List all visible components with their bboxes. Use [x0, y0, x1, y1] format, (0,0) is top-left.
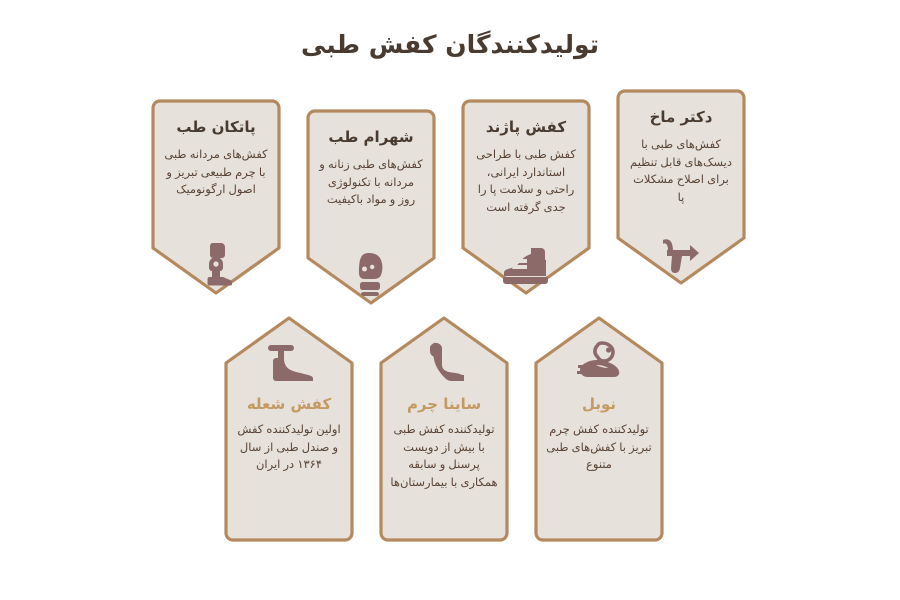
card-description: تولیدکننده کفش چرم تبریز با کفش‌های طبی …	[545, 421, 653, 474]
card-content: نوبل تولیدکننده کفش چرم تبریز با کفش‌های…	[533, 315, 665, 543]
card-content: دکتر ماخ کفش‌های طبی با دیسک‌های قابل تن…	[615, 88, 747, 286]
card-description: تولیدکننده کفش طبی با بیش از دویست پرسنل…	[390, 421, 498, 492]
card-content: کفش پاژند کفش طبی با طراحی استاندارد ایر…	[460, 98, 592, 296]
card-heading: کفش شعله	[247, 395, 331, 414]
card-content: ساینا چرم تولیدکننده کفش طبی با بیش از د…	[378, 315, 510, 543]
page-title: تولیدکنندگان کفش طبی	[0, 30, 900, 59]
sandal-heel-icon	[265, 341, 313, 383]
high-heel-shoe-icon	[423, 341, 465, 383]
card-description: کفش‌های طبی با دیسک‌های قابل تنظیم برای …	[629, 136, 733, 207]
card-shahram-teb[interactable]: شهرام طب کفش‌های طبی زنانه و مردانه با ت…	[305, 108, 437, 306]
card-heading: کفش پاژند	[486, 118, 566, 137]
card-heading: پاتکان طب	[176, 118, 255, 137]
infographic-canvas: تولیدکنندگان کفش طبی پاتکان طب کفش‌های م…	[0, 0, 900, 600]
card-description: کفش‌های مردانه طبی با چرم طبیعی تبریز و …	[164, 146, 268, 199]
card-description: کفش طبی با طراحی استاندارد ایرانی، راحتی…	[474, 146, 578, 217]
sneaker-boot-icon	[503, 246, 549, 288]
card-description: کفش‌های طبی زنانه و مردانه با تکنولوژی ر…	[319, 156, 423, 209]
card-content: کفش شعله اولین تولیدکننده کفش و صندل طبی…	[223, 315, 355, 543]
card-doctor-makh[interactable]: دکتر ماخ کفش‌های طبی با دیسک‌های قابل تن…	[615, 88, 747, 286]
card-heading: نوبل	[582, 395, 616, 414]
card-heading: دکتر ماخ	[650, 108, 713, 127]
card-content: شهرام طب کفش‌های طبی زنانه و مردانه با ت…	[305, 108, 437, 306]
card-kafsh-pazhand[interactable]: کفش پاژند کفش طبی با طراحی استاندارد ایر…	[460, 98, 592, 296]
prosthetic-leg-icon	[199, 242, 233, 288]
card-heading: شهرام طب	[328, 128, 413, 147]
card-sayna-charm[interactable]: ساینا چرم تولیدکننده کفش طبی با بیش از د…	[378, 315, 510, 543]
card-patkan-teb[interactable]: پاتکان طب کفش‌های مردانه طبی با چرم طبیع…	[150, 98, 282, 296]
card-description: اولین تولیدکننده کفش و صندل طبی از سال ۱…	[235, 421, 343, 474]
footprint-sole-icon	[356, 252, 386, 298]
card-nobel[interactable]: نوبل تولیدکننده کفش چرم تبریز با کفش‌های…	[533, 315, 665, 543]
foot-care-massage-icon	[576, 341, 622, 383]
orthopedic-insole-icon	[659, 236, 703, 278]
card-kafsh-shole[interactable]: کفش شعله اولین تولیدکننده کفش و صندل طبی…	[223, 315, 355, 543]
card-heading: ساینا چرم	[407, 395, 481, 414]
card-content: پاتکان طب کفش‌های مردانه طبی با چرم طبیع…	[150, 98, 282, 296]
